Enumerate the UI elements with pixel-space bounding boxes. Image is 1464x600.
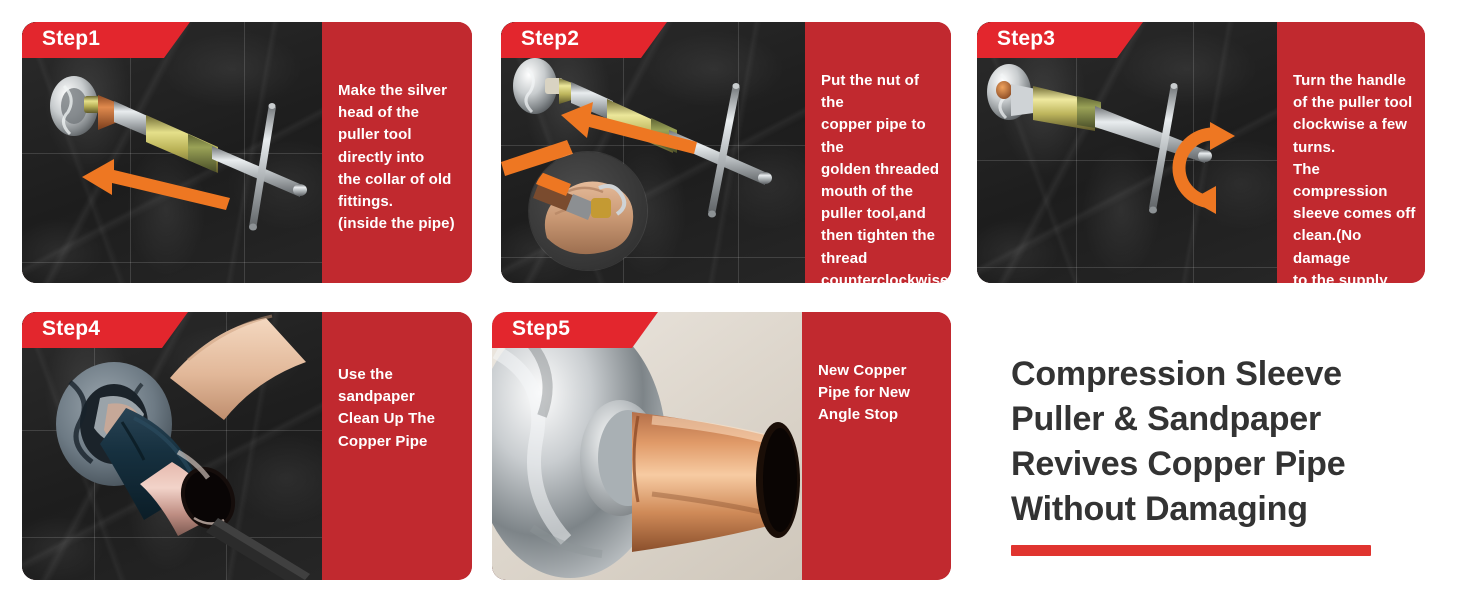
step-3-badge: Step3 (977, 22, 1143, 58)
orange-rotation-arrow-icon (1167, 122, 1259, 214)
step-card-5: New Copper Pipe for New Angle Stop Step5 (492, 312, 951, 580)
step-card-2: Put the nut of the copper pipe to the go… (501, 22, 951, 283)
step-4-text: Use the sandpaper Clean Up The Copper Pi… (338, 364, 464, 453)
headline-underline-rule (1011, 545, 1371, 556)
step-1-photo (22, 22, 322, 283)
copper-pipe-escutcheon-illustration (492, 312, 802, 580)
product-headline: Compression Sleeve Puller & Sandpaper Re… (1011, 352, 1411, 532)
hand-holding-nut-inset-photo (529, 152, 647, 270)
step-1-text-panel: Make the silver head of the puller tool … (322, 22, 472, 283)
step-card-1: Make the silver head of the puller tool … (22, 22, 472, 283)
step-3-text-panel: Turn the handle of the puller tool clock… (1277, 22, 1425, 283)
step-4-photo (22, 312, 322, 580)
step-3-badge-label: Step3 (997, 27, 1055, 51)
step-5-badge: Step5 (492, 312, 658, 348)
step-1-badge: Step1 (22, 22, 190, 58)
step-card-3: Turn the handle of the puller tool clock… (977, 22, 1425, 283)
step-2-photo (501, 22, 805, 283)
infographic-root: Make the silver head of the puller tool … (0, 0, 1464, 600)
step-1-badge-label: Step1 (42, 27, 100, 51)
sanding-copper-pipe-illustration (22, 312, 322, 580)
step-1-text: Make the silver head of the puller tool … (338, 80, 464, 235)
orange-arrow-left-icon (80, 152, 240, 212)
step-2-badge: Step2 (501, 22, 667, 58)
step-2-text-panel: Put the nut of the copper pipe to the go… (805, 22, 951, 283)
step-card-4: Use the sandpaper Clean Up The Copper Pi… (22, 312, 472, 580)
step-3-photo (977, 22, 1277, 283)
step-3-text: Turn the handle of the puller tool clock… (1293, 70, 1417, 283)
step-4-badge-label: Step4 (42, 317, 100, 341)
step-2-badge-label: Step2 (521, 27, 579, 51)
step-5-text-panel: New Copper Pipe for New Angle Stop (802, 312, 951, 580)
step-4-badge: Step4 (22, 312, 188, 348)
step-5-photo (492, 312, 802, 580)
step-2-text: Put the nut of the copper pipe to the go… (821, 70, 943, 283)
step-5-text: New Copper Pipe for New Angle Stop (818, 360, 943, 427)
step-4-text-panel: Use the sandpaper Clean Up The Copper Pi… (322, 312, 472, 580)
step-5-badge-label: Step5 (512, 317, 570, 341)
